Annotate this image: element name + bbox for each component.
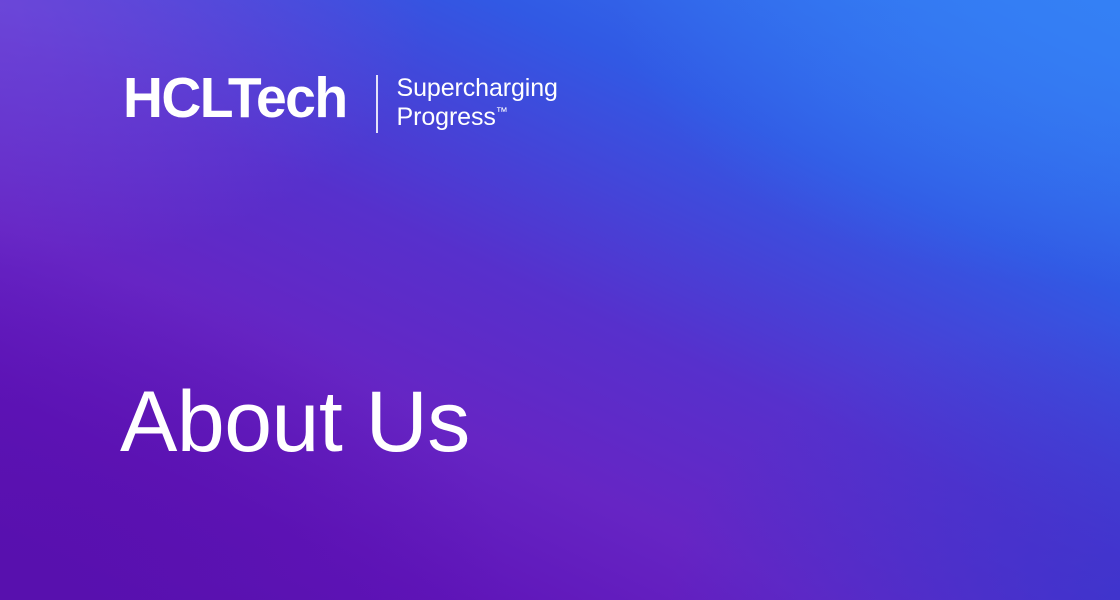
title-slide: HCLTech Supercharging Progress™ About Us [0,0,1120,600]
tagline-line-1: Supercharging [397,74,558,103]
trademark-symbol: ™ [496,105,508,119]
hcltech-logo[interactable]: HCLTech Supercharging Progress™ [123,68,558,133]
logo-tagline: Supercharging Progress™ [397,74,558,132]
logo-divider-rule [376,75,378,133]
slide-content: HCLTech Supercharging Progress™ About Us [0,0,1120,600]
hcltech-wordmark: HCLTech [123,68,347,128]
tagline-line-2: Progress™ [397,103,558,132]
page-title: About Us [120,374,470,470]
tagline-line-2-text: Progress [397,103,496,131]
